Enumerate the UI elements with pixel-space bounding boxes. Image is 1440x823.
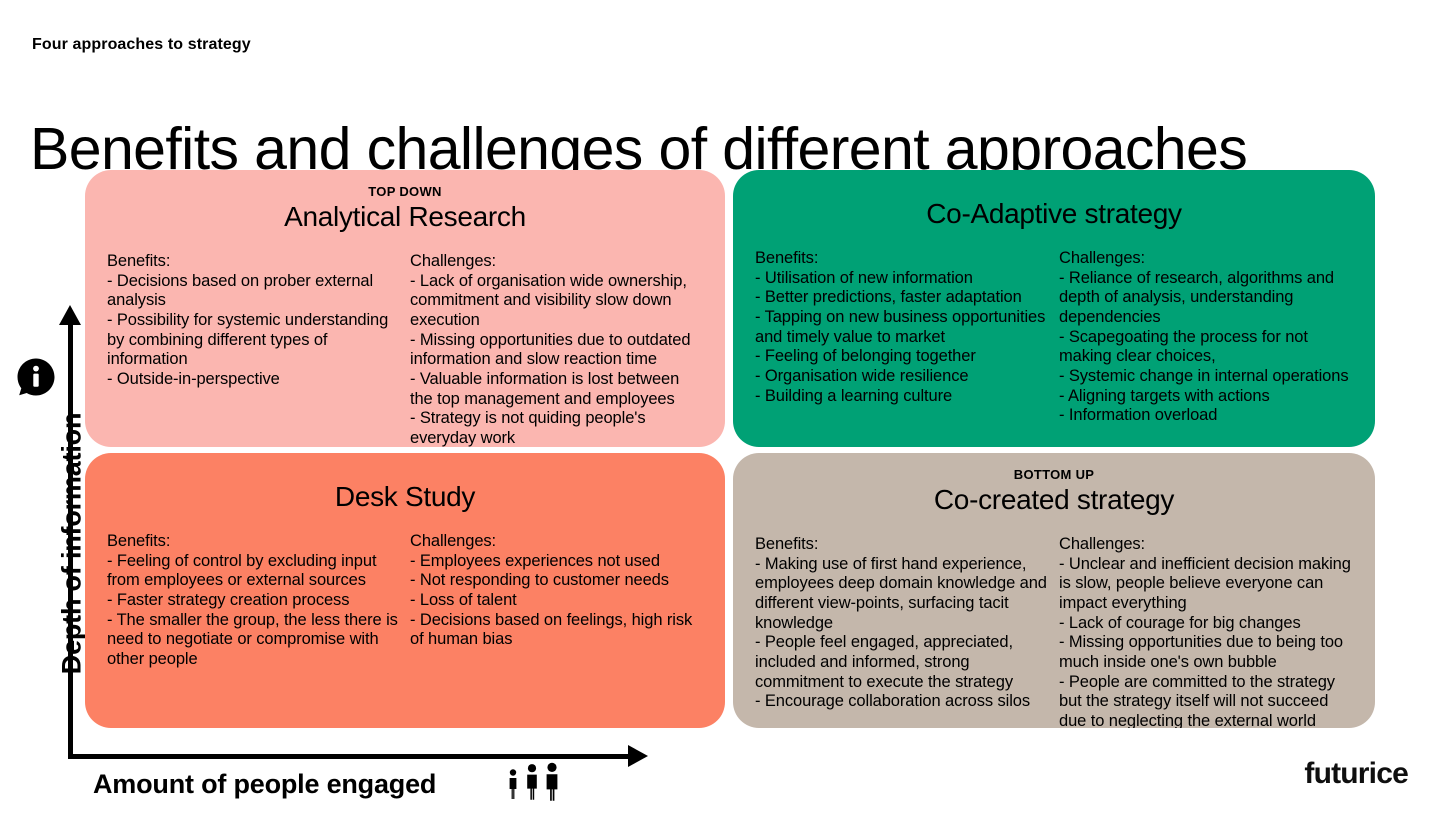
quadrant-title: Co-Adaptive strategy bbox=[755, 198, 1353, 230]
challenges-item: - Loss of talent bbox=[410, 591, 703, 611]
challenges-item: - Unclear and inefficient decision makin… bbox=[1059, 555, 1353, 614]
benefits-column: Benefits: - Feeling of control by exclud… bbox=[107, 532, 400, 669]
challenges-item: - Missing opportunities due to being too… bbox=[1059, 633, 1353, 672]
benefits-column: Benefits: - Making use of first hand exp… bbox=[755, 535, 1049, 728]
quadrant-kicker: TOP DOWN bbox=[107, 185, 703, 200]
quadrant-co-created-strategy[interactable]: BOTTOM UP Co-created strategy Benefits: … bbox=[733, 453, 1375, 728]
futurice-logo: futurice bbox=[1304, 757, 1408, 791]
benefits-item: - Encourage collaboration across silos bbox=[755, 692, 1049, 712]
challenges-item: - Employees experiences not used bbox=[410, 552, 703, 572]
benefits-column: Benefits: - Decisions based on prober ex… bbox=[107, 252, 400, 447]
quadrant-grid: TOP DOWN Analytical Research Benefits: -… bbox=[85, 170, 1375, 728]
benefits-heading: Benefits: bbox=[755, 535, 1049, 555]
benefits-column: Benefits: - Utilisation of new informati… bbox=[755, 249, 1049, 426]
quadrant-kicker: BOTTOM UP bbox=[755, 468, 1353, 483]
quadrant-desk-study[interactable]: Desk Study Benefits: - Feeling of contro… bbox=[85, 453, 725, 728]
challenges-column: Challenges: - Lack of organisation wide … bbox=[410, 252, 703, 447]
challenges-column: Challenges: - Employees experiences not … bbox=[410, 532, 703, 669]
challenges-heading: Challenges: bbox=[410, 252, 703, 272]
benefits-item: - Feeling of belonging together bbox=[755, 347, 1049, 367]
benefits-item: - Tapping on new business opportunities … bbox=[755, 308, 1049, 347]
x-axis-label: Amount of people engaged bbox=[93, 769, 436, 800]
quadrant-columns: Benefits: - Decisions based on prober ex… bbox=[107, 252, 703, 447]
quadrant-title: Analytical Research bbox=[107, 201, 703, 233]
benefits-item: - Outside-in-perspective bbox=[107, 370, 400, 390]
benefits-heading: Benefits: bbox=[107, 532, 400, 552]
benefits-item: - Building a learning culture bbox=[755, 387, 1049, 407]
challenges-item: - Reliance of research, algorithms and d… bbox=[1059, 269, 1353, 328]
challenges-item: - Decisions based on feelings, high risk… bbox=[410, 611, 703, 650]
challenges-item: - Valuable information is lost between t… bbox=[410, 370, 703, 409]
benefits-item: - Faster strategy creation process bbox=[107, 591, 400, 611]
quadrant-columns: Benefits: - Making use of first hand exp… bbox=[755, 535, 1353, 728]
challenges-item: - People are committed to the strategy b… bbox=[1059, 673, 1353, 728]
quadrant-title: Desk Study bbox=[107, 481, 703, 513]
challenges-column: Challenges: - Reliance of research, algo… bbox=[1059, 249, 1353, 426]
benefits-item: - Feeling of control by excluding input … bbox=[107, 552, 400, 591]
people-group-icon bbox=[505, 762, 567, 802]
challenges-heading: Challenges: bbox=[1059, 249, 1353, 269]
challenges-item: - Aligning targets with actions bbox=[1059, 387, 1353, 407]
benefits-heading: Benefits: bbox=[755, 249, 1049, 269]
slide-eyebrow: Four approaches to strategy bbox=[32, 36, 251, 54]
challenges-item: - Information overload bbox=[1059, 406, 1353, 426]
info-icon bbox=[16, 357, 56, 397]
challenges-heading: Challenges: bbox=[1059, 535, 1353, 555]
quadrant-columns: Benefits: - Utilisation of new informati… bbox=[755, 249, 1353, 426]
challenges-column: Challenges: - Unclear and inefficient de… bbox=[1059, 535, 1353, 728]
benefits-item: - Better predictions, faster adaptation bbox=[755, 288, 1049, 308]
challenges-item: - Lack of courage for big changes bbox=[1059, 614, 1353, 634]
challenges-item: - Scapegoating the process for not makin… bbox=[1059, 328, 1353, 367]
benefits-item: - People feel engaged, appreciated, incl… bbox=[755, 633, 1049, 692]
quadrant-co-adaptive-strategy[interactable]: Co-Adaptive strategy Benefits: - Utilisa… bbox=[733, 170, 1375, 447]
challenges-item: - Missing opportunities due to outdated … bbox=[410, 331, 703, 370]
challenges-item: - Systemic change in internal operations bbox=[1059, 367, 1353, 387]
quadrant-title: Co-created strategy bbox=[755, 484, 1353, 516]
benefits-item: - The smaller the group, the less there … bbox=[107, 611, 400, 670]
quadrant-analytical-research[interactable]: TOP DOWN Analytical Research Benefits: -… bbox=[85, 170, 725, 447]
y-axis-label: Depth of information bbox=[57, 394, 88, 694]
benefits-item: - Possibility for systemic understanding… bbox=[107, 311, 400, 370]
challenges-item: - Strategy is not quiding people's every… bbox=[410, 409, 703, 447]
x-axis-line bbox=[68, 754, 642, 759]
benefits-item: - Utilisation of new information bbox=[755, 269, 1049, 289]
x-axis-arrowhead bbox=[628, 745, 648, 767]
quadrant-columns: Benefits: - Feeling of control by exclud… bbox=[107, 532, 703, 669]
benefits-item: - Making use of first hand experience, e… bbox=[755, 555, 1049, 634]
benefits-heading: Benefits: bbox=[107, 252, 400, 272]
challenges-heading: Challenges: bbox=[410, 532, 703, 552]
benefits-item: - Organisation wide resilience bbox=[755, 367, 1049, 387]
benefits-item: - Decisions based on prober external ana… bbox=[107, 272, 400, 311]
challenges-item: - Lack of organisation wide ownership, c… bbox=[410, 272, 703, 331]
challenges-item: - Not responding to customer needs bbox=[410, 571, 703, 591]
y-axis-arrowhead bbox=[59, 305, 81, 325]
